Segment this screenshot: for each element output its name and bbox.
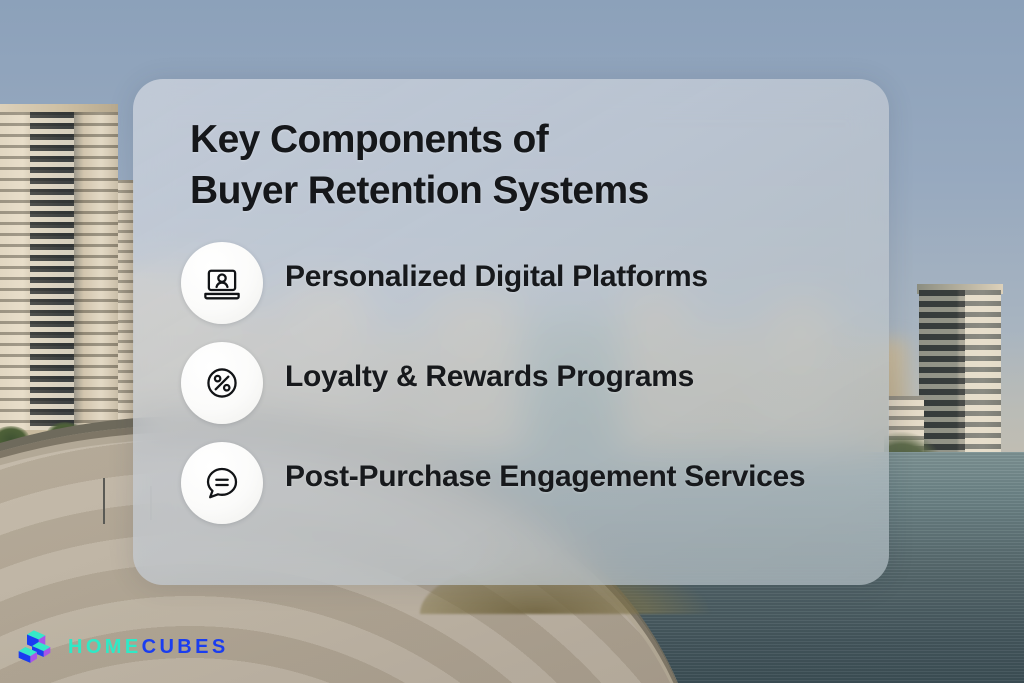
list-item: Personalized Digital Platforms — [181, 242, 881, 324]
list-item-label: Loyalty & Rewards Programs — [285, 342, 694, 399]
card-title: Key Components of Buyer Retention System… — [190, 115, 830, 216]
icon-badge — [181, 242, 263, 324]
list-item: Loyalty & Rewards Programs — [181, 342, 881, 424]
brand-logo[interactable]: HOMECUBES — [17, 627, 229, 667]
laptop-user-icon — [201, 262, 243, 304]
chat-bubble-lines-icon — [201, 462, 243, 504]
list-item-label: Post-Purchase Engagement Services — [285, 442, 805, 499]
card-title-line-2: Buyer Retention Systems — [190, 166, 830, 217]
logo-word-home: HOME — [68, 636, 142, 658]
screenshot-canvas: Key Components of Buyer Retention System… — [0, 0, 1024, 683]
icon-badge — [181, 342, 263, 424]
percent-circle-icon — [201, 362, 243, 404]
icon-badge — [181, 442, 263, 524]
logo-wordmark: HOMECUBES — [68, 637, 229, 657]
isometric-cube-logo-icon — [17, 627, 57, 667]
lamp-post — [103, 478, 105, 524]
logo-word-cubes: CUBES — [142, 636, 229, 658]
list-item: Post-Purchase Engagement Services — [181, 442, 881, 524]
components-list: Personalized Digital Platforms Loyalty &… — [181, 242, 881, 524]
glass-info-card: Key Components of Buyer Retention System… — [133, 79, 889, 585]
list-item-label: Personalized Digital Platforms — [285, 242, 708, 299]
residential-tower-left — [0, 112, 118, 442]
card-title-line-1: Key Components of — [190, 115, 830, 166]
